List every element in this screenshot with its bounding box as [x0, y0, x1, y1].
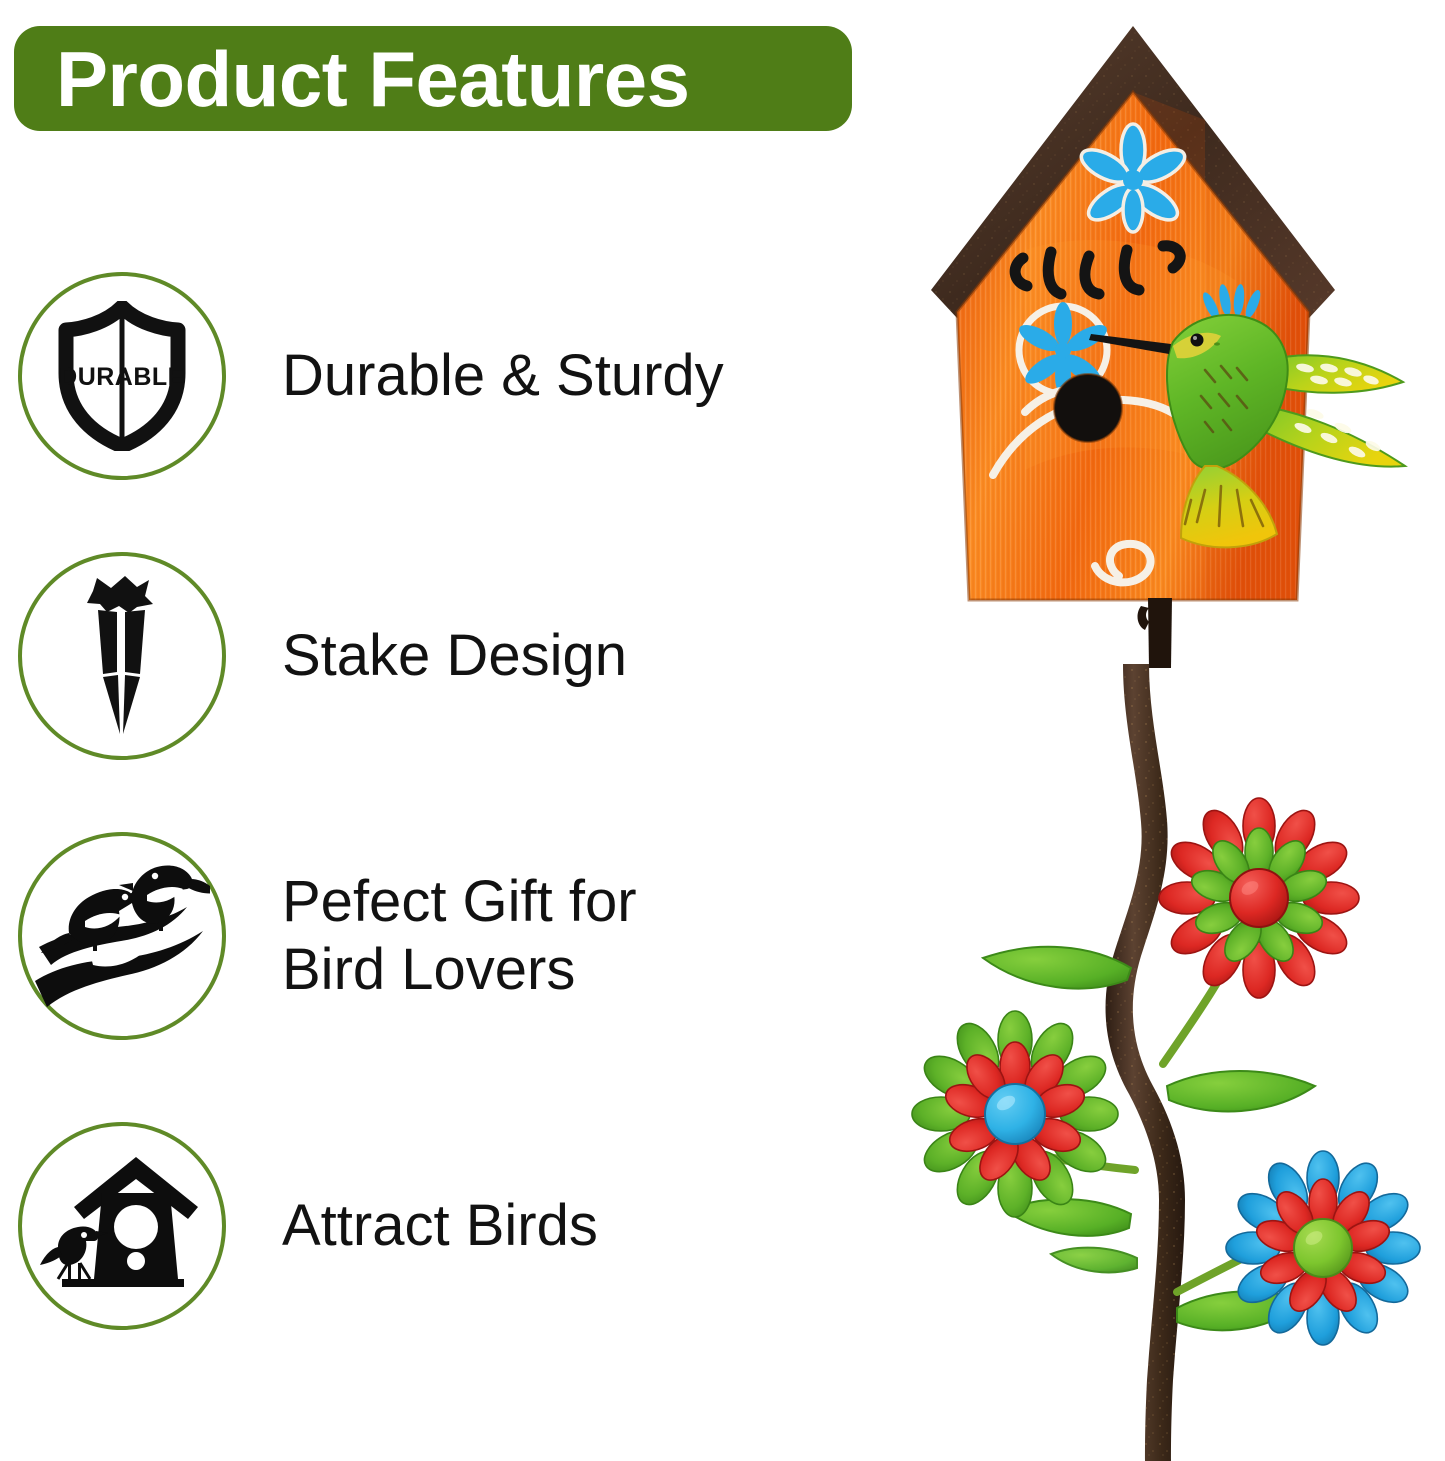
ground-stake-icon — [67, 574, 177, 739]
feature-label: Durable & Sturdy — [282, 342, 724, 410]
feature-item-gift: Pefect Gift for Bird Lovers — [18, 832, 637, 1040]
feature-label: Pefect Gift for Bird Lovers — [282, 868, 637, 1005]
shield-icon-text: DURABLE — [59, 363, 185, 391]
feature-label: Stake Design — [282, 622, 627, 690]
page-title: Product Features — [56, 40, 689, 118]
feature-icon-badge — [18, 832, 226, 1040]
feature-label: Attract Birds — [282, 1192, 598, 1260]
feature-icon-badge — [18, 552, 226, 760]
two-birds-on-branch-icon — [35, 849, 210, 1024]
feature-icon-badge — [18, 1122, 226, 1330]
shield-durable-icon: DURABLE — [52, 301, 192, 451]
stake-pole — [1106, 598, 1185, 1461]
feature-item-attract: Attract Birds — [18, 1122, 598, 1330]
product-image-hummingbird-birdhouse-stake — [905, 0, 1445, 1461]
feature-icon-badge: DURABLE — [18, 272, 226, 480]
metal-flower-middle — [912, 1011, 1118, 1217]
feature-item-stake: Stake Design — [18, 552, 627, 760]
birdhouse-entrance-hole — [1054, 374, 1122, 442]
birdhouse-with-bird-icon — [40, 1151, 205, 1301]
header-banner: Product Features — [14, 26, 852, 131]
feature-item-durable: DURABLE Durable & Sturdy — [18, 272, 724, 480]
metal-flower-top — [1159, 798, 1359, 998]
